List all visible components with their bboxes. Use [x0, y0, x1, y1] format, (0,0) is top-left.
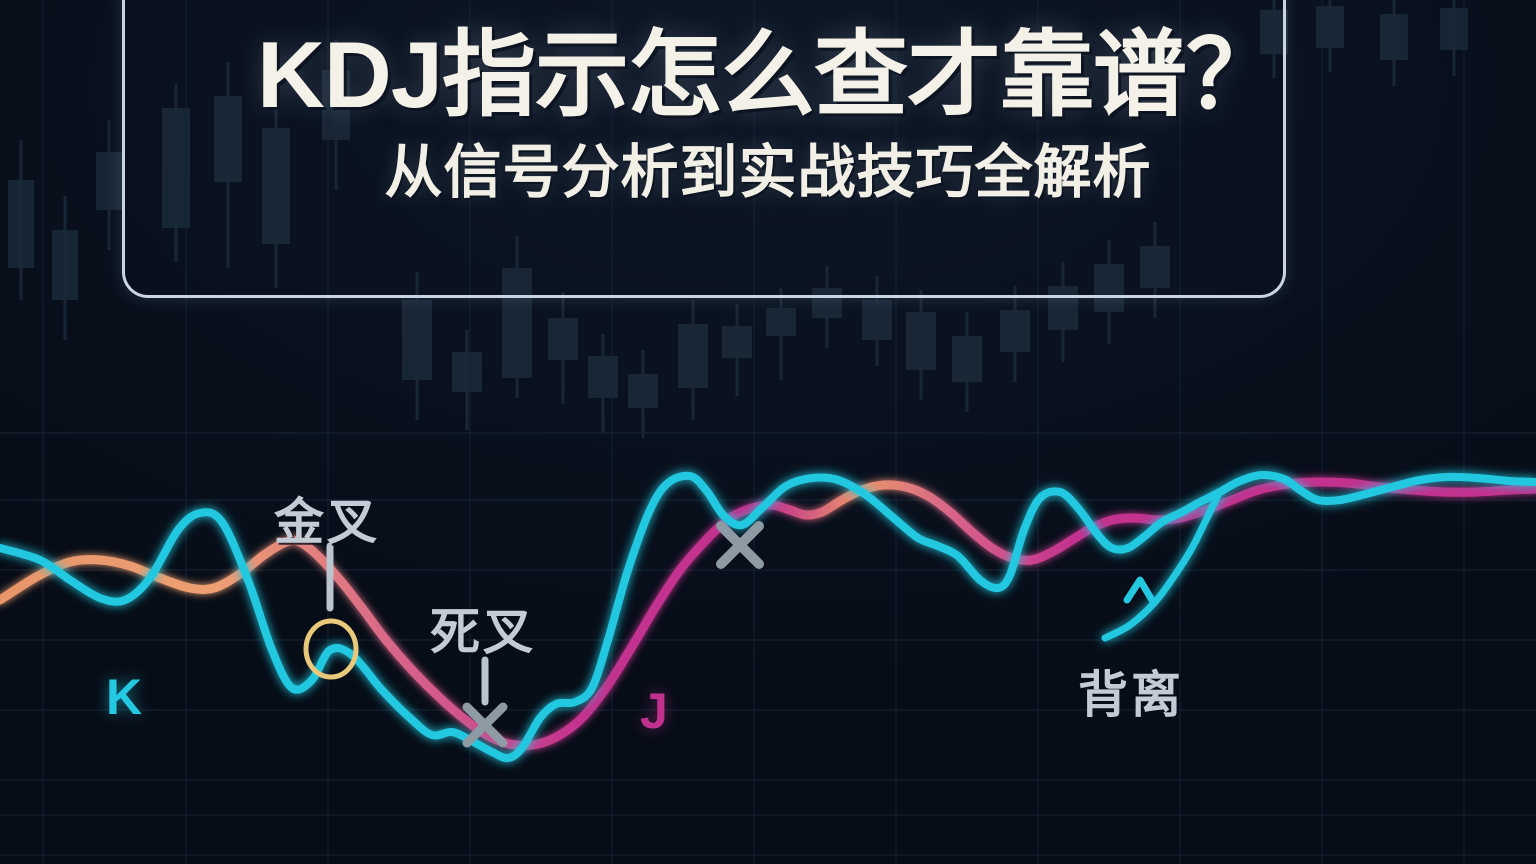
annotation-label-golden-cross: 金叉	[274, 482, 380, 554]
series-label-k: K	[106, 668, 142, 726]
kdj-indicator-chart	[0, 0, 1536, 864]
annotation-label-divergence: 背离	[1078, 655, 1184, 727]
series-label-j: J	[640, 682, 668, 740]
annotation-label-death-cross: 死叉	[430, 592, 536, 664]
poster-canvas: KDJ指示怎么查才靠谱？ 从信号分析到实战技巧全解析	[0, 0, 1536, 864]
